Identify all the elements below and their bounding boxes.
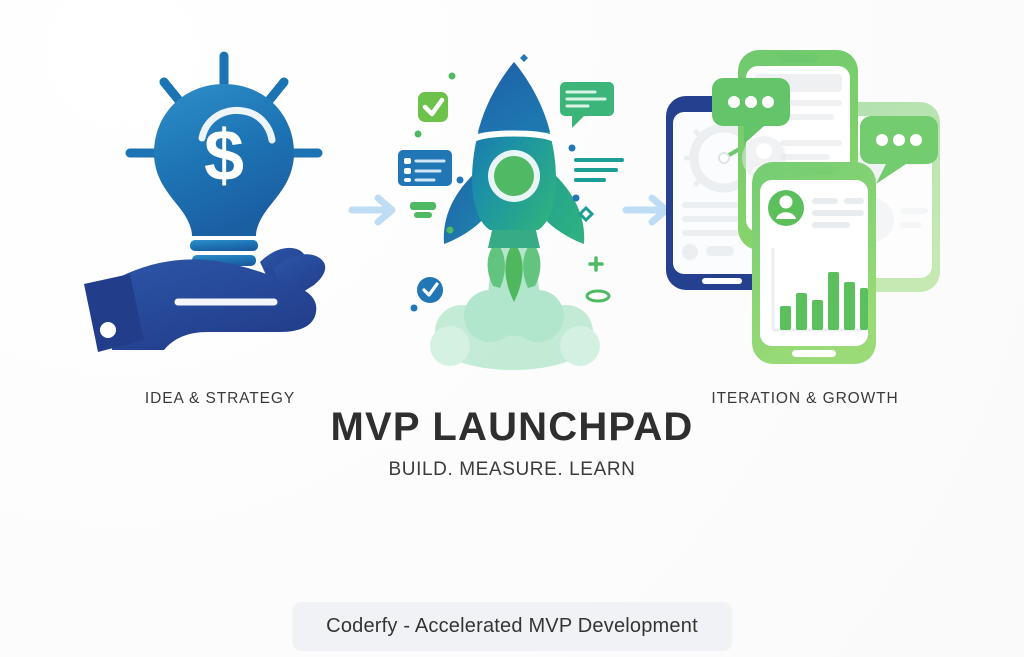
phone-green-front bbox=[752, 162, 876, 364]
mobile-devices-analytics-icon bbox=[660, 40, 950, 370]
list-card-icon bbox=[398, 150, 452, 186]
text-lines-icon bbox=[576, 160, 622, 180]
stage-idea-strategy[interactable]: $ bbox=[78, 40, 362, 370]
rocket-nose-cone bbox=[478, 62, 550, 132]
shield-check-icon bbox=[417, 277, 443, 303]
check-badge-icon bbox=[418, 92, 448, 122]
chat-card-icon bbox=[560, 82, 614, 128]
page-title: MVP LAUNCHPAD bbox=[0, 405, 1024, 449]
small-widget-icon bbox=[410, 202, 436, 218]
footer-badge[interactable]: Coderfy - Accelerated MVP Development bbox=[292, 602, 732, 651]
lightbulb-dollar-in-hand-icon: $ bbox=[78, 40, 362, 370]
svg-text:$: $ bbox=[204, 116, 244, 196]
page-tagline: BUILD. MEASURE. LEARN bbox=[0, 459, 1024, 481]
poster-canvas: $ bbox=[0, 0, 1024, 657]
stage-iteration-growth[interactable]: ITERATION & GROWTH bbox=[660, 40, 950, 370]
avatar-icon bbox=[768, 190, 804, 226]
rocket-window bbox=[494, 156, 534, 196]
dollar-sign-icon: $ bbox=[204, 116, 244, 196]
title-block: MVP LAUNCHPAD BUILD. MEASURE. LEARN bbox=[0, 405, 1024, 481]
open-hand-icon bbox=[84, 248, 325, 352]
rocket-launch-icon bbox=[390, 40, 636, 370]
process-stage-row: $ bbox=[0, 0, 1024, 400]
stage-build-launch[interactable] bbox=[390, 40, 636, 370]
